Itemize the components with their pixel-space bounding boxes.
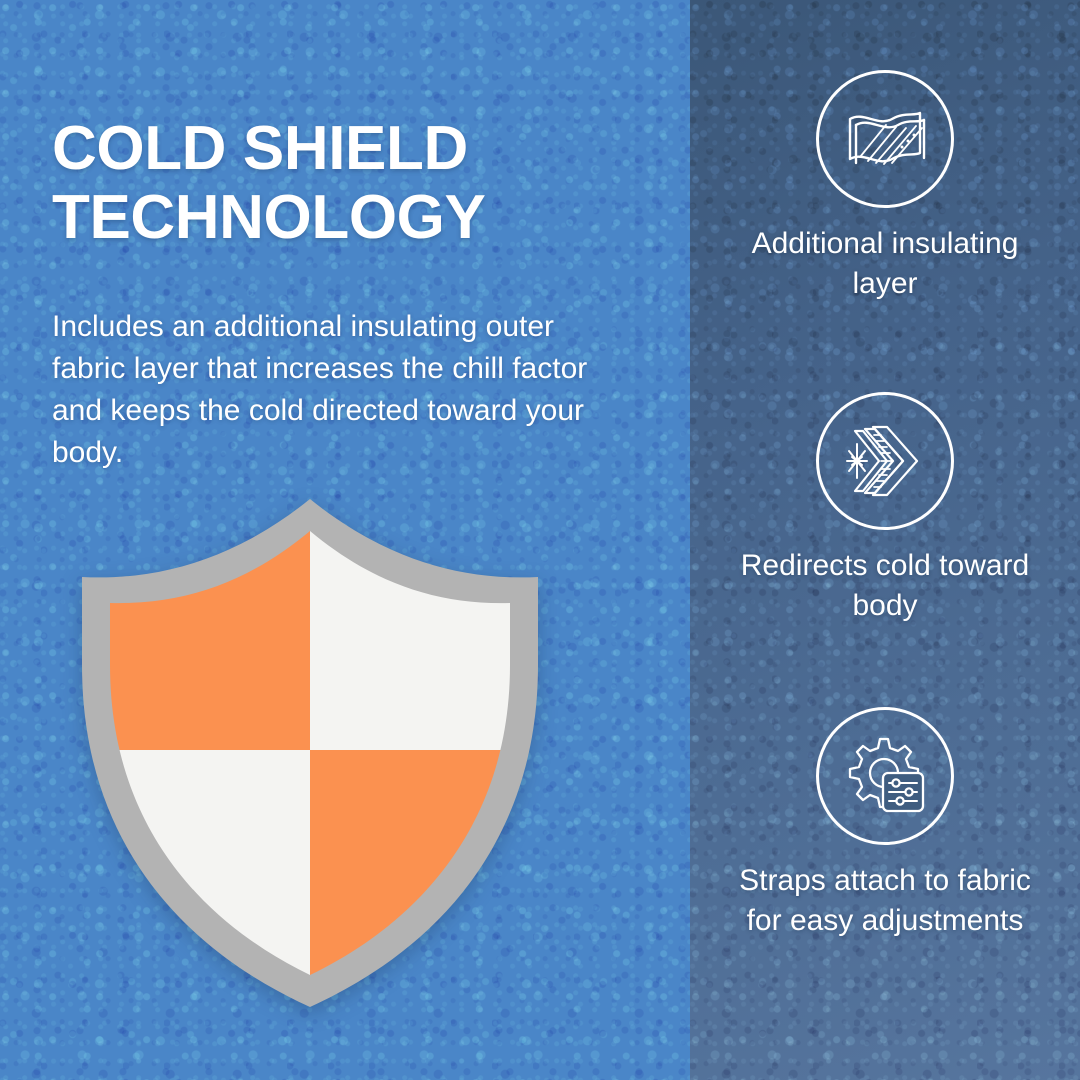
feature-label: Redirects cold toward body [690,546,1080,626]
feature-item-insulating-layer: Additional insulating layer [690,70,1080,304]
body-paragraph: Includes an additional insulating outer … [52,306,627,474]
gear-sliders-icon [816,707,954,845]
layered-chevrons-cold-icon [816,392,954,530]
shield-graphic [70,485,550,1015]
feature-label: Straps attach to fabric for easy adjustm… [690,861,1080,941]
shield-quadrants [70,485,550,1015]
infographic-canvas: COLD SHIELD TECHNOLOGY Includes an addit… [0,0,1080,1080]
feature-label: Additional insulating layer [690,224,1080,304]
fabric-layer-icon [816,70,954,208]
feature-item-redirects-cold: Redirects cold toward body [690,392,1080,626]
feature-item-strap-adjustments: Straps attach to fabric for easy adjustm… [690,707,1080,941]
page-title: COLD SHIELD TECHNOLOGY [52,114,652,253]
